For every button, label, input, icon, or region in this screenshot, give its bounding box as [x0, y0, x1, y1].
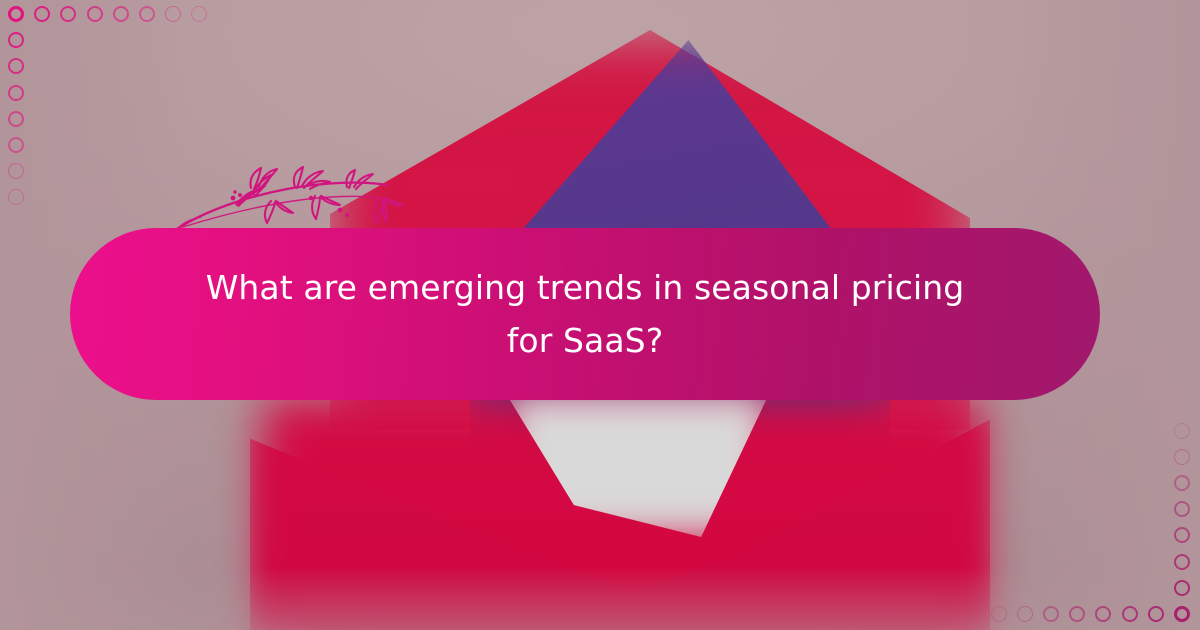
- decorative-ring-dot: [1174, 423, 1190, 439]
- decorative-ring-dot: [113, 6, 129, 22]
- decorative-ring-dot: [991, 606, 1007, 622]
- decorative-ring-dot: [1043, 606, 1059, 622]
- decorative-ring-dot: [8, 137, 24, 153]
- decorative-ring-dot: [1017, 606, 1033, 622]
- decorative-ring-dot: [8, 6, 24, 22]
- decorative-ring-dot: [8, 85, 24, 101]
- decorative-ring-dot: [87, 6, 103, 22]
- decorative-ring-dot: [1174, 449, 1190, 465]
- decorative-ring-dot: [1122, 606, 1138, 622]
- decorative-ring-dot: [139, 6, 155, 22]
- page-title: What are emerging trends in seasonal pri…: [206, 261, 965, 368]
- decorative-ring-dot: [1174, 475, 1190, 491]
- decorative-ring-dot: [1174, 580, 1190, 596]
- decorative-ring-dot: [1174, 554, 1190, 570]
- title-pill-banner: What are emerging trends in seasonal pri…: [70, 228, 1100, 400]
- decorative-ring-dot: [8, 111, 24, 127]
- decorative-ring-dot: [1174, 606, 1190, 622]
- decorative-ring-dot: [1148, 606, 1164, 622]
- floral-branch-ornament-icon: [175, 165, 405, 233]
